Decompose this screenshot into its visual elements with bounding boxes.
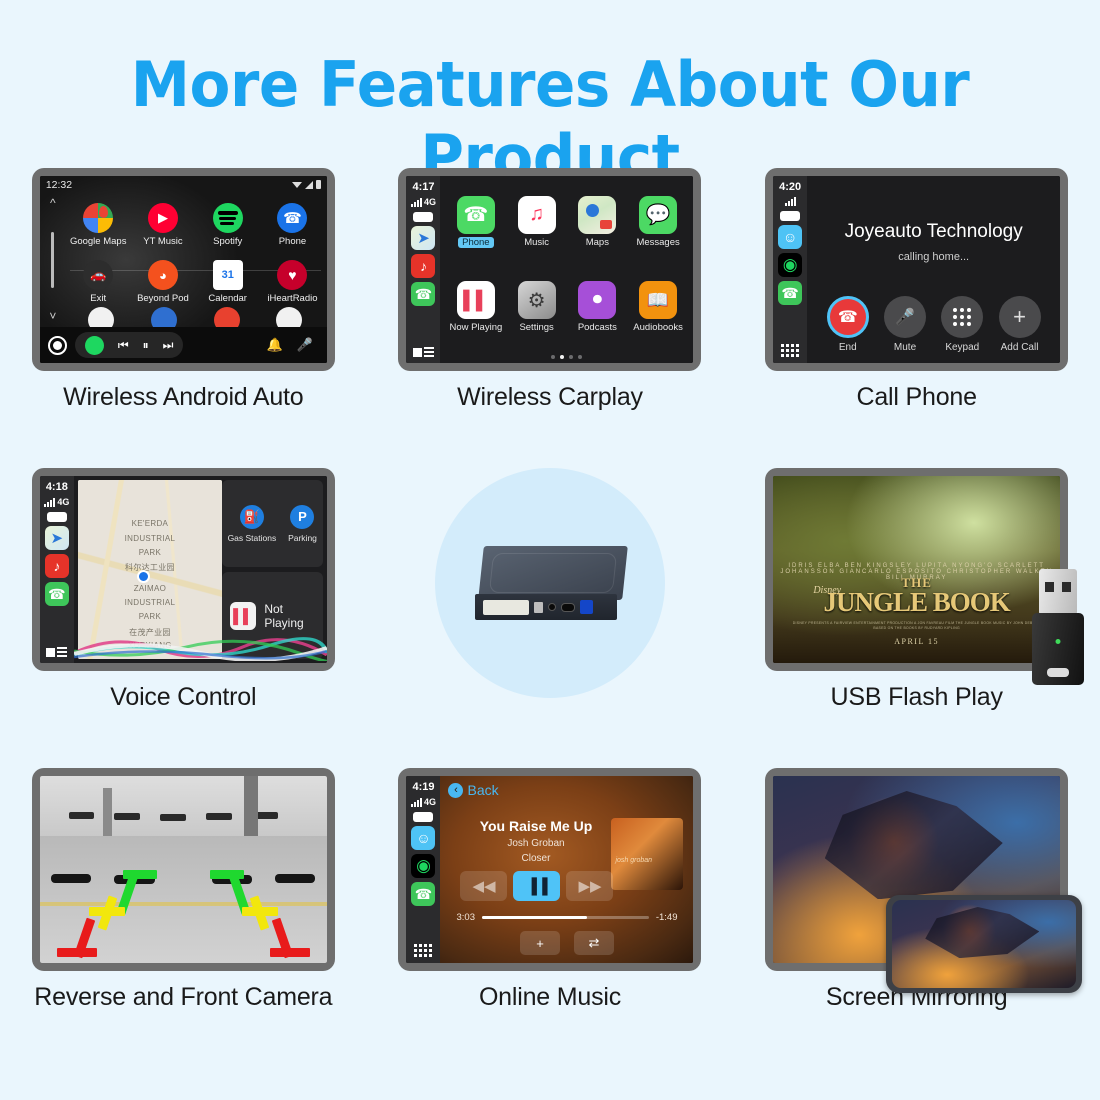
app-label: Music <box>524 237 549 248</box>
mute-button[interactable]: 🎤 Mute <box>884 296 926 353</box>
phone-icon[interactable]: ☎ <box>45 582 69 606</box>
wifi-icon <box>292 182 302 188</box>
carplay-screen: 4:17 4G ➤ ♪ ☎ <box>406 176 693 363</box>
garage-ceiling <box>40 776 327 836</box>
vga-out-icon <box>561 603 575 612</box>
progress-row: 3:03 -1:49 <box>456 912 677 923</box>
feature-caption: Online Music <box>479 983 621 1012</box>
back-button[interactable]: ‹ Back <box>448 782 498 798</box>
status-time: 12:32 <box>46 179 72 191</box>
android-auto-device: 12:32 ^ ˅ <box>32 168 335 371</box>
sidebar-time: 4:20 <box>779 181 801 193</box>
track-title: You Raise Me Up <box>456 818 615 834</box>
app-label: Spotify <box>213 236 242 247</box>
feature-caption: Call Phone <box>857 383 977 412</box>
page-dot <box>569 355 573 359</box>
android-auto-next-row-peek <box>70 307 321 323</box>
maps-icon[interactable]: ➤ <box>411 226 435 250</box>
button-label: Add Call <box>1001 342 1039 353</box>
guide-line-yellow-right-tip <box>242 907 278 916</box>
app-maps[interactable]: Maps <box>568 180 627 264</box>
app-settings[interactable]: ⚙ Settings <box>507 266 566 350</box>
remaining-time: -1:49 <box>656 912 678 923</box>
app-list-toggle-icon[interactable] <box>413 347 434 357</box>
feature-cell-usb-flash: IDRIS ELBA BEN KINGSLEY LUPITA NYONG'O S… <box>733 468 1100 768</box>
app-label: Google Maps <box>70 236 127 247</box>
usb-flash-screen: IDRIS ELBA BEN KINGSLEY LUPITA NYONG'O S… <box>773 476 1060 663</box>
phone-icon: ☎ <box>277 203 307 233</box>
network-label: 4G <box>424 197 436 207</box>
poi-label: Gas Stations <box>228 533 277 543</box>
android-auto-app-grid: Google Maps ▶ YT Music Spotify <box>66 196 325 325</box>
voice-main: KE'ERDA INDUSTRIAL PARK 科尔达工业园 ZAIMAO IN… <box>74 476 327 663</box>
track-artist: Josh Groban <box>456 838 615 849</box>
keypad-button[interactable]: Keypad <box>941 296 983 353</box>
now-playing-status: Not Playing <box>264 602 323 630</box>
feature-cell-screen-mirroring: Screen Mirroring <box>733 768 1100 1068</box>
signal-icon <box>785 197 796 206</box>
product-box-top <box>478 546 628 600</box>
av-jack-icon <box>548 603 556 611</box>
android-auto-status-bar: 12:32 <box>40 176 327 193</box>
parking-icon: P <box>290 505 314 529</box>
apple-music-icon: ♫ <box>518 196 556 234</box>
feature-caption: Voice Control <box>110 683 256 712</box>
pause-button[interactable]: ▐▐ <box>513 871 560 901</box>
phone-icon: ☎ <box>457 196 495 234</box>
button-label: End <box>839 342 857 353</box>
waze-icon[interactable]: ☺ <box>778 225 802 249</box>
bottom-right-icons: 🔔 🎤 <box>266 337 318 353</box>
page-title: More Features About Our Product <box>22 0 1078 194</box>
button-label: Mute <box>894 342 916 353</box>
carplay-device: 4:17 4G ➤ ♪ ☎ <box>398 168 701 371</box>
back-label: Back <box>467 782 498 798</box>
next-button[interactable]: ⏭ <box>163 338 174 353</box>
app-grid-toggle-icon[interactable] <box>414 944 432 957</box>
screen-mirroring-device <box>765 768 1068 971</box>
poi-label: Parking <box>288 533 317 543</box>
game-artwork-mirrored <box>892 900 1076 988</box>
app-messages[interactable]: 💬 Messages <box>629 180 688 264</box>
music-sidebar: 4:19 4G ☺ ◉ ☎ <box>406 776 440 963</box>
add-call-button[interactable]: + Add Call <box>999 296 1041 353</box>
app-label: Audiobooks <box>633 322 683 333</box>
transport-controls: ◀◀ ▐▐ ▶▶ <box>460 871 613 901</box>
feature-caption: Wireless Carplay <box>457 383 643 412</box>
usb-port-icon <box>534 602 543 613</box>
battery-icon <box>413 812 433 822</box>
feature-cell-android-auto: 12:32 ^ ˅ <box>0 168 367 468</box>
keypad-icon <box>941 296 983 338</box>
app-label: Beyond Pod <box>137 293 189 304</box>
album-art-caption: josh groban <box>615 857 652 864</box>
siri-waveform <box>74 627 327 661</box>
spotify-icon[interactable] <box>85 336 104 355</box>
scrollbar-thumb[interactable] <box>51 232 54 288</box>
call-phone-screen: 4:20 ☺ ◉ ☎ Joyeauto Technology calling h… <box>773 176 1060 363</box>
battery-icon <box>47 512 67 522</box>
map-label-cn: 科尔达工业园 <box>78 562 222 573</box>
guide-line-green-left-tip <box>123 870 157 879</box>
siri-wave-icon <box>74 627 327 661</box>
feature-caption: Wireless Android Auto <box>63 383 303 412</box>
network-label: 4G <box>424 797 436 807</box>
phone-icon[interactable]: ☎ <box>411 282 435 306</box>
app-calendar[interactable]: 31 Calendar <box>195 254 260 312</box>
app-exit[interactable]: 🚗 Exit <box>66 254 131 312</box>
chevron-left-icon: ‹ <box>448 783 463 798</box>
netease-music-icon[interactable]: ♪ <box>45 554 69 578</box>
app-list-toggle-icon[interactable] <box>46 647 67 657</box>
page-dot-active <box>560 355 564 359</box>
feature-cell-product <box>367 468 734 768</box>
usb-flash-device: IDRIS ELBA BEN KINGSLEY LUPITA NYONG'O S… <box>765 468 1068 671</box>
guide-line-red-left-tip <box>57 948 97 957</box>
end-call-button[interactable]: ☎ End <box>827 296 869 353</box>
app-phone[interactable]: ☎ Phone <box>446 180 505 264</box>
phone-icon[interactable]: ☎ <box>778 281 802 305</box>
feature-cell-reverse-camera: Reverse and Front Camera <box>0 768 367 1068</box>
carplay-app-grid: ☎ Phone ♫ Music <box>446 180 687 349</box>
app-iheartradio[interactable]: ♥ iHeartRadio <box>260 254 325 312</box>
movie-title: THE JUNGLE BOOK <box>773 575 1060 618</box>
android-auto-bottom-bar: ⏮ ⏸ ⏭ 🔔 🎤 <box>40 327 327 363</box>
battery-icon <box>780 211 800 221</box>
feature-cell-carplay: 4:17 4G ➤ ♪ ☎ <box>367 168 734 468</box>
product-box-front-ports <box>475 594 617 620</box>
app-beyond-pod[interactable]: ◕ Beyond Pod <box>131 254 196 312</box>
map-label: INDUSTRIAL <box>78 598 222 607</box>
phone-screen <box>892 900 1076 988</box>
spotify-icon <box>213 203 243 233</box>
shuffle-repeat-button[interactable]: ⇄ <box>574 931 614 955</box>
app-music[interactable]: ♫ Music <box>507 180 566 264</box>
voice-control-device: 4:18 4G ➤ ♪ ☎ <box>32 468 335 671</box>
media-controls: ⏮ ⏸ ⏭ <box>75 332 184 358</box>
chevron-down-icon[interactable]: ˅ <box>49 309 56 323</box>
apple-maps-icon <box>578 196 616 234</box>
online-music-screen: 4:19 4G ☺ ◉ ☎ <box>406 776 693 963</box>
usb-housing <box>1032 613 1084 685</box>
movie-release-date: APRIL 15 <box>773 637 1060 646</box>
android-auto-screen: 12:32 ^ ˅ <box>40 176 327 363</box>
voice-control-screen: 4:18 4G ➤ ♪ ☎ <box>40 476 327 663</box>
settings-gear-icon: ⚙ <box>518 281 556 319</box>
android-auto-scroll-rail[interactable]: ^ ˅ <box>42 196 64 323</box>
poi-card: ⛽ Gas Stations P Parking <box>222 480 323 567</box>
battery-icon <box>413 212 433 222</box>
gas-station-icon: ⛽ <box>240 505 264 529</box>
network-label: 4G <box>57 497 69 507</box>
call-status: calling home... <box>807 251 1060 263</box>
track-album: Closer <box>456 853 615 864</box>
iheartradio-icon: ♥ <box>277 260 307 290</box>
now-playing-icon: ▌▌ <box>230 602 257 630</box>
app-now-playing[interactable]: ▌▌ Now Playing <box>446 266 505 350</box>
app-phone[interactable]: ☎ Phone <box>260 196 325 254</box>
page-dot <box>551 355 555 359</box>
battery-icon <box>316 180 321 189</box>
guide-line-yellow-left-tip <box>89 907 125 916</box>
bell-icon[interactable]: 🔔 <box>266 337 282 353</box>
map-label: ZAIMAO <box>78 584 222 593</box>
youtube-music-icon: ▶ <box>148 203 178 233</box>
guide-line-red-right-tip <box>270 948 310 957</box>
messages-icon: 💬 <box>639 196 677 234</box>
app-label: Podcasts <box>578 322 617 333</box>
poi-parking[interactable]: P Parking <box>288 505 317 543</box>
extra-controls: + ⇄ <box>440 931 693 955</box>
podcasts-icon: ⏺ <box>578 281 616 319</box>
spotify-icon[interactable]: ◉ <box>778 253 802 277</box>
feature-caption: USB Flash Play <box>831 683 1003 712</box>
app-label: iHeartRadio <box>267 293 317 304</box>
call-actions: ☎ End 🎤 Mute Keypad <box>807 296 1060 353</box>
carplay-sidebar: 4:17 4G ➤ ♪ ☎ <box>406 176 440 363</box>
page-indicator[interactable] <box>440 355 693 359</box>
feature-grid: 12:32 ^ ˅ <box>0 168 1100 1068</box>
signal-icon <box>411 798 422 807</box>
app-label: Maps <box>586 237 609 248</box>
maps-icon[interactable]: ➤ <box>45 526 69 550</box>
add-to-library-button[interactable]: + <box>520 931 560 955</box>
app-yt-music[interactable]: ▶ YT Music <box>131 196 196 254</box>
app-audiobooks[interactable]: 📖 Audiobooks <box>629 266 688 350</box>
app-google-maps[interactable]: Google Maps <box>66 196 131 254</box>
status-icons <box>292 180 321 189</box>
phone-icon[interactable]: ☎ <box>411 882 435 906</box>
camera-feed <box>40 776 327 963</box>
album-artwork: josh groban <box>611 818 683 890</box>
online-music-device: 4:19 4G ☺ ◉ ☎ <box>398 768 701 971</box>
signal-icon <box>305 181 313 189</box>
forward-button[interactable]: ▶▶ <box>566 871 613 901</box>
google-maps-icon <box>83 203 113 233</box>
button-label: Keypad <box>945 342 979 353</box>
mirrored-phone <box>886 895 1082 993</box>
elapsed-time: 3:03 <box>456 912 475 923</box>
product-highlight-circle <box>435 468 665 698</box>
product-box-image <box>475 546 625 620</box>
waze-icon[interactable]: ☺ <box>411 826 435 850</box>
page-dot <box>578 355 582 359</box>
lvds-connector-icon <box>580 600 593 614</box>
spotify-icon[interactable]: ◉ <box>411 854 435 878</box>
signal-indicator: 4G <box>411 797 436 807</box>
app-label: Messages <box>636 237 679 248</box>
feature-cell-voice-control: 4:18 4G ➤ ♪ ☎ <box>0 468 367 768</box>
end-call-icon: ☎ <box>827 296 869 338</box>
signal-indicator: 4G <box>411 197 436 207</box>
carplay-home-main: ☎ Phone ♫ Music <box>440 176 693 363</box>
sidebar-time: 4:18 <box>46 481 68 493</box>
chevron-up-icon[interactable]: ^ <box>50 196 56 210</box>
music-main: ‹ Back You Raise Me Up Josh Groban Close… <box>440 776 693 963</box>
poi-gas-stations[interactable]: ⛽ Gas Stations <box>228 505 277 543</box>
voice-sidebar: 4:18 4G ➤ ♪ ☎ <box>40 476 74 663</box>
app-label: Settings <box>519 322 553 333</box>
progress-bar[interactable] <box>482 916 649 919</box>
reverse-camera-device <box>32 768 335 971</box>
feature-cell-call-phone: 4:20 ☺ ◉ ☎ Joyeauto Technology calling h… <box>733 168 1100 468</box>
guide-line-green-right-tip <box>210 870 244 879</box>
pause-button[interactable]: ⏸ <box>143 338 149 353</box>
map-label: INDUSTRIAL <box>78 534 222 543</box>
app-label: Now Playing <box>449 322 502 333</box>
current-location-icon <box>137 570 150 583</box>
beyondpod-icon: ◕ <box>148 260 178 290</box>
reverse-camera-screen <box>40 776 327 963</box>
caller-name: Joyeauto Technology <box>807 221 1060 243</box>
signal-indicator: 4G <box>44 497 69 507</box>
power-connector-icon <box>483 600 529 615</box>
movie-title-main: JUNGLE BOOK <box>824 587 1010 617</box>
map-label: PARK <box>78 612 222 621</box>
map-label: KE'ERDA <box>78 519 222 528</box>
record-icon[interactable] <box>48 336 67 355</box>
usb-flash-drive-icon <box>1032 569 1084 685</box>
netease-music-icon[interactable]: ♪ <box>411 254 435 278</box>
calendar-icon: 31 <box>213 260 243 290</box>
add-call-icon: + <box>999 296 1041 338</box>
prev-button[interactable]: ⏮ <box>118 338 129 353</box>
signal-icon <box>44 498 55 507</box>
call-phone-device: 4:20 ☺ ◉ ☎ Joyeauto Technology calling h… <box>765 168 1068 371</box>
app-label: Exit <box>90 293 106 304</box>
mic-icon[interactable]: 🎤 <box>297 337 313 353</box>
app-grid-toggle-icon[interactable] <box>781 344 799 357</box>
audiobooks-icon: 📖 <box>639 281 677 319</box>
sidebar-time: 4:19 <box>412 781 434 793</box>
signal-icon <box>411 198 422 207</box>
feature-cell-online-music: 4:19 4G ☺ ◉ ☎ <box>367 768 734 1068</box>
app-label: Calendar <box>208 293 247 304</box>
map-label: PARK <box>78 548 222 557</box>
rewind-button[interactable]: ◀◀ <box>460 871 507 901</box>
now-playing-icon: ▌▌ <box>457 281 495 319</box>
app-label: YT Music <box>143 236 182 247</box>
call-main: Joyeauto Technology calling home... ☎ En… <box>807 176 1060 363</box>
call-sidebar: 4:20 ☺ ◉ ☎ <box>773 176 807 363</box>
sidebar-time: 4:17 <box>412 181 434 193</box>
mute-mic-icon: 🎤 <box>884 296 926 338</box>
car-exit-icon: 🚗 <box>83 260 113 290</box>
app-label: Phone <box>458 237 493 248</box>
app-podcasts[interactable]: ⏺ Podcasts <box>568 266 627 350</box>
usb-connector <box>1039 569 1077 615</box>
movie-credits: DISNEY PRESENTS A FAIRVIEW ENTERTAINMENT… <box>790 621 1043 633</box>
app-spotify[interactable]: Spotify <box>195 196 260 254</box>
app-label: Phone <box>279 236 306 247</box>
feature-caption: Reverse and Front Camera <box>34 983 332 1012</box>
